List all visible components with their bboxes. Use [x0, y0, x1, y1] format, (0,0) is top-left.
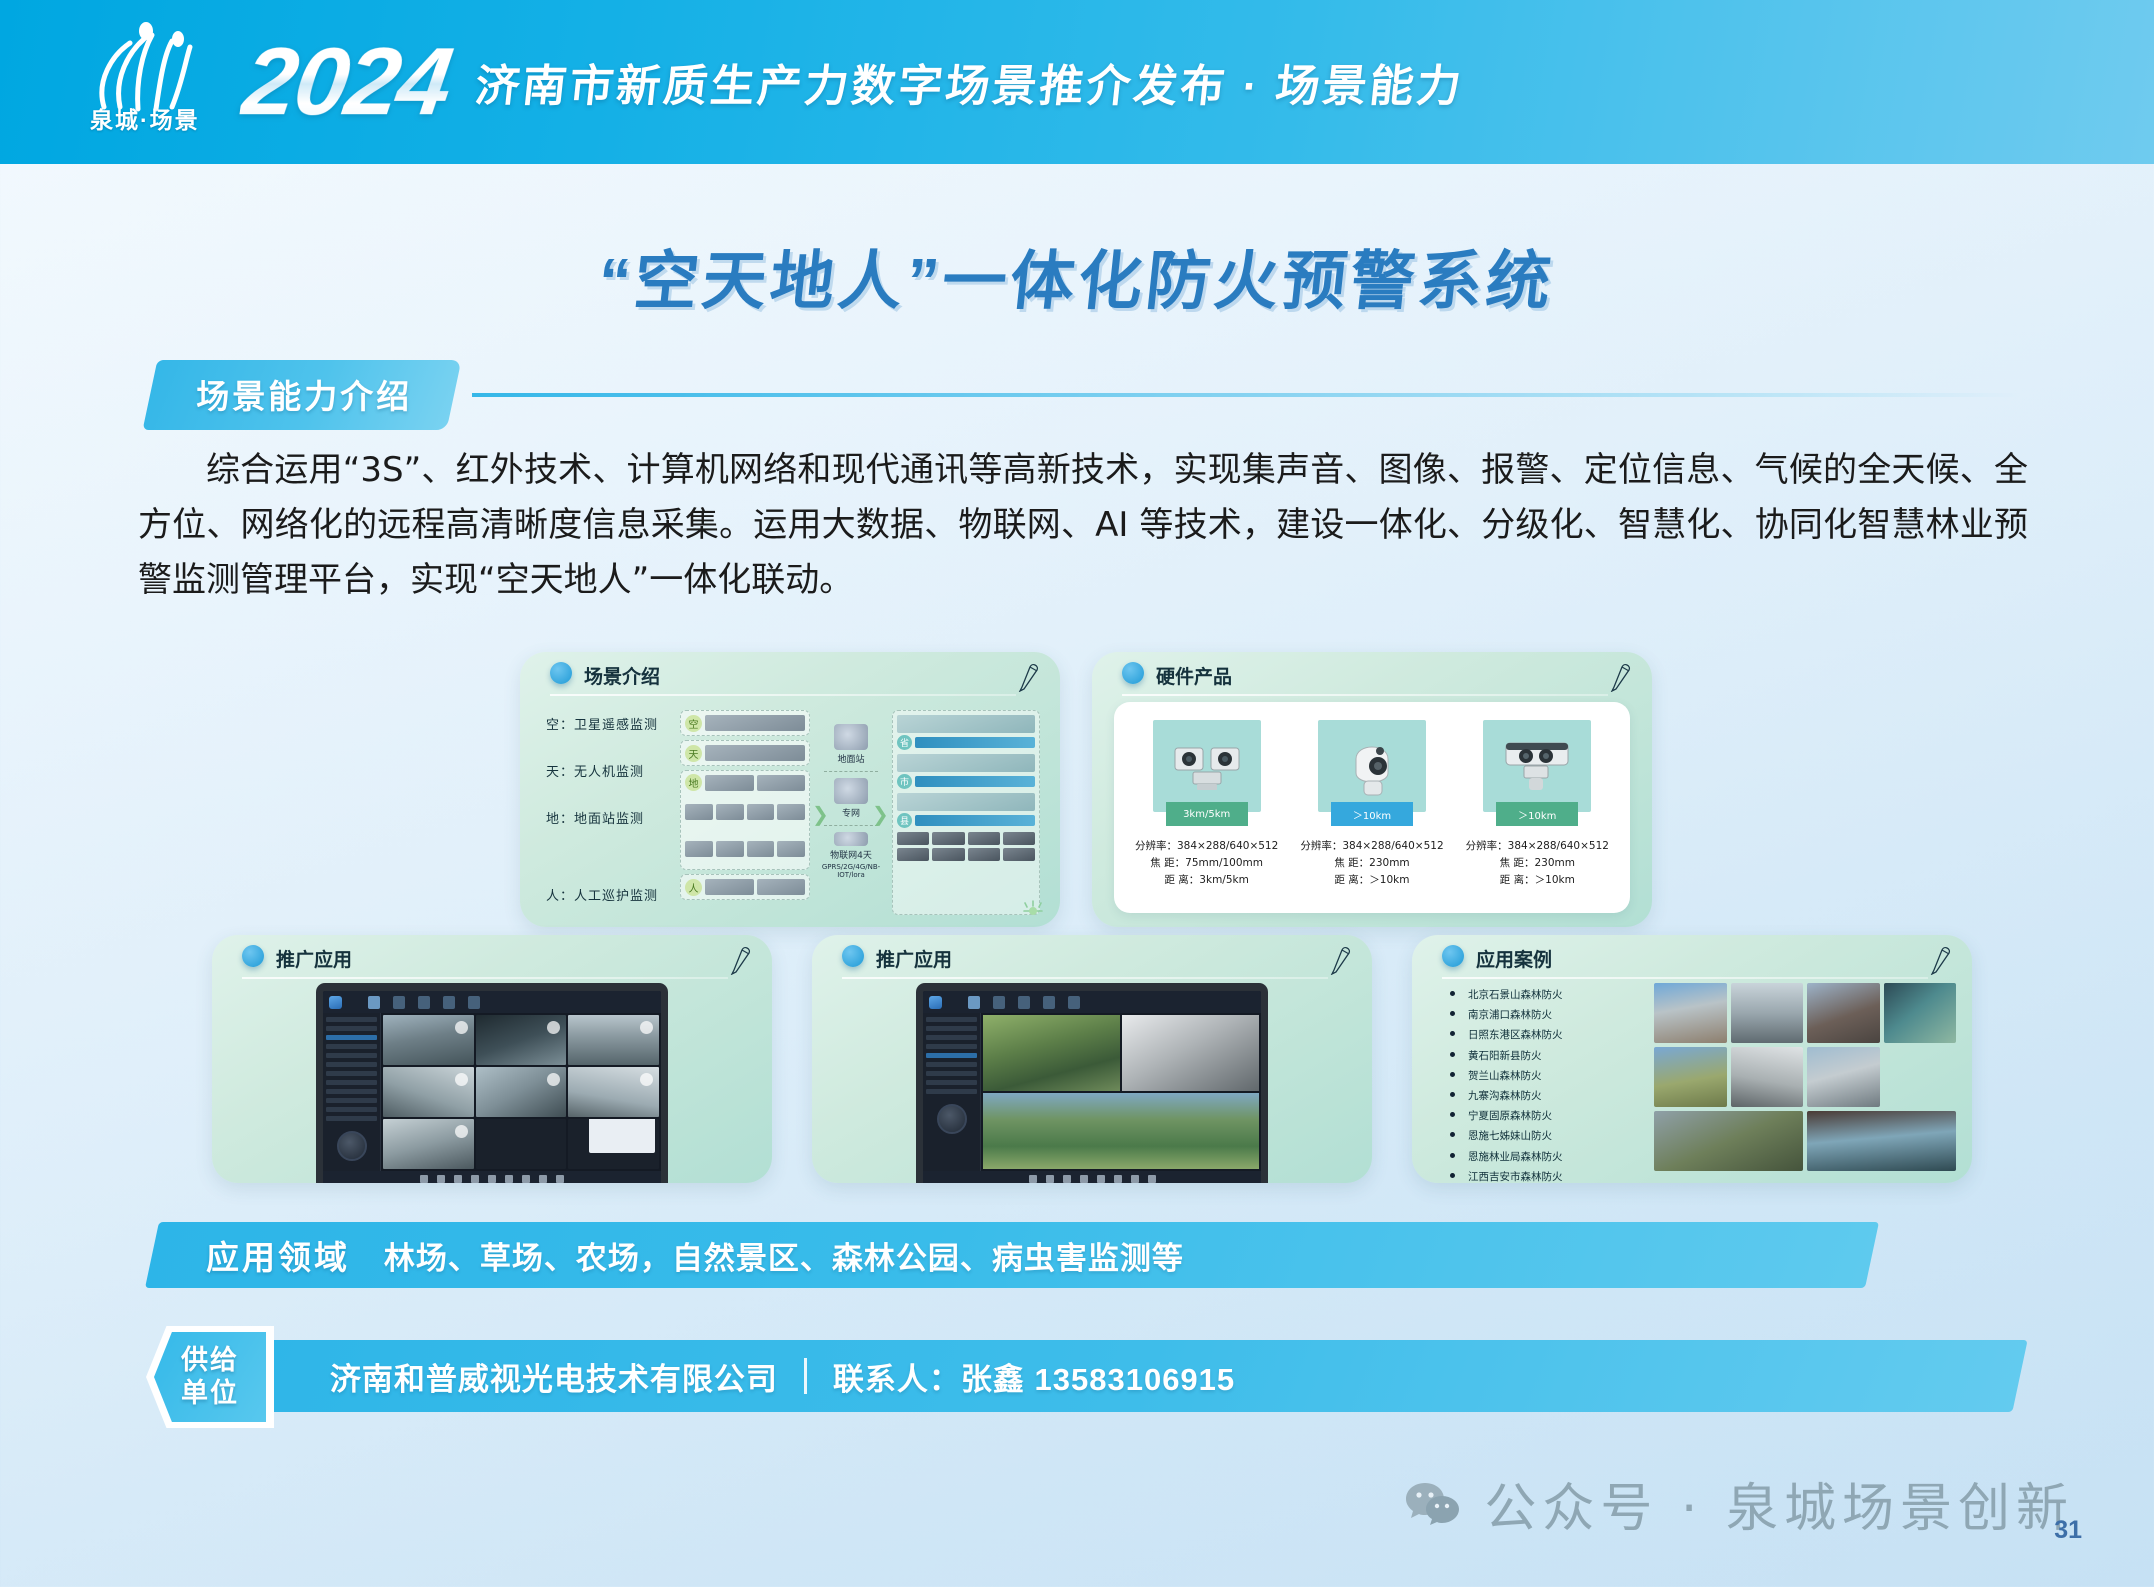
device-icon [897, 832, 929, 845]
wechat-label: 公众号 · 泉城场景创新 [1484, 1466, 2074, 1541]
tab-alarm[interactable] [1018, 996, 1030, 1009]
video-tile-panorama[interactable] [983, 1093, 1259, 1169]
case-photo-gallery [1654, 983, 1956, 1171]
product-photo-ptz-dome: ＞10km [1318, 720, 1426, 812]
card-divider [550, 694, 1016, 696]
list-item: 恩施七姊妹山防火 [1446, 1128, 1646, 1143]
iot-label: 物联网4天 [820, 848, 882, 861]
video-tile-visible-light[interactable] [983, 1015, 1120, 1091]
level-badge-province: 省 [897, 735, 912, 750]
tree-item[interactable] [926, 1089, 977, 1094]
spec-focal-length: 焦 距：230mm [1297, 855, 1447, 872]
laptop-mockup [916, 983, 1268, 1183]
product-photo-dual-spectrum: 3km/5km [1153, 720, 1261, 812]
layout-4x4-icon[interactable] [1097, 1175, 1105, 1183]
layout-1x1-icon[interactable] [1046, 1175, 1054, 1183]
video-tile-thermal[interactable] [1122, 1015, 1259, 1091]
hardware-item: ＞10km 分辨率：384×288/640×512 焦 距：230mm 距 离：… [1297, 720, 1447, 889]
product-photo-laser-ptz: ＞10km [1483, 720, 1591, 812]
tab-playback[interactable] [393, 996, 405, 1009]
application-field-band: 应用领域 林场、草场、农场，自然景区、森林公园、病虫害监测等 [145, 1222, 1879, 1288]
video-tile[interactable] [476, 1067, 567, 1117]
case-photo-control-room [1807, 1111, 1956, 1171]
platform-bar-county [915, 815, 1035, 826]
brand-logo-subtitle: 泉城·场景 [90, 101, 200, 135]
laptop-screen [323, 991, 661, 1183]
list-item: 北京石景山森林防火 [1446, 987, 1646, 1002]
spec-focal-length: 焦 距：75mm/100mm [1132, 855, 1282, 872]
tool-pen-icon[interactable] [1029, 1175, 1037, 1183]
tree-item[interactable] [326, 1071, 377, 1076]
card-header: 硬件产品 [1092, 652, 1652, 696]
card-header: 场景介绍 [520, 652, 1060, 696]
tree-item-selected[interactable] [926, 1053, 977, 1058]
terminal-devices-grid [897, 832, 1035, 861]
satellite-icon [705, 715, 805, 731]
source-icons-row2 [685, 795, 805, 829]
tree-item[interactable] [326, 1107, 377, 1112]
card-divider [842, 977, 1328, 979]
list-item: 黄石阳新县防火 [1446, 1048, 1646, 1063]
video-tile[interactable] [568, 1067, 659, 1117]
layer-label-human: 人：人工巡护监测 [546, 885, 676, 904]
patrol-person-icon [757, 879, 806, 895]
platform-bar-city [915, 776, 1035, 787]
supplier-contact: 联系人：张鑫 13583106915 [833, 1354, 1235, 1399]
case-list: 北京石景山森林防火 南京浦口森林防火 日照东港区森林防火 黄石阳新县防火 贺兰山… [1446, 987, 1646, 1183]
section-tag-label: 场景能力介绍 [196, 370, 412, 418]
fullscreen-icon[interactable] [556, 1175, 564, 1183]
app-bottom-toolbar [923, 1171, 1261, 1183]
list-item: 日照东港区森林防火 [1446, 1027, 1646, 1042]
record-icon[interactable] [1131, 1175, 1139, 1183]
card-header: 推广应用 [812, 935, 1372, 979]
product-range-tag: 3km/5km [1166, 802, 1248, 826]
card-title: 场景介绍 [584, 662, 660, 689]
product-specs: 分辨率：384×288/640×512 焦 距：75mm/100mm 距 离：3… [1132, 838, 1282, 889]
device-icon [968, 848, 1000, 861]
device-tree-sidebar[interactable] [323, 1013, 381, 1171]
list-item: 贺兰山森林防火 [1446, 1068, 1646, 1083]
video-grid [983, 1015, 1259, 1169]
source-icons [705, 715, 805, 731]
layout-list-icon[interactable] [420, 1175, 428, 1183]
source-icons [705, 879, 805, 895]
tree-item[interactable] [326, 1089, 377, 1094]
spec-resolution: 分辨率：384×288/640×512 [1462, 838, 1612, 855]
source-icons-row3 [685, 833, 805, 867]
flow-arrow-2: ❯ [872, 802, 889, 827]
list-item: 九寨沟森林防火 [1446, 1088, 1646, 1103]
card-promotion-dualview: 推广应用 [812, 935, 1372, 1183]
pen-icon [1928, 943, 1954, 975]
video-wall [981, 1013, 1261, 1171]
spec-focal-length: 焦 距：230mm [1462, 855, 1612, 872]
case-photo-tower-camera [1654, 983, 1727, 1043]
tree-item[interactable] [326, 1026, 377, 1031]
card-title: 硬件产品 [1156, 662, 1232, 689]
tree-item[interactable] [326, 1053, 377, 1058]
tab-alarm[interactable] [418, 996, 430, 1009]
tree-item[interactable] [926, 1062, 977, 1067]
snapshot-icon[interactable] [522, 1175, 530, 1183]
iot-cloud-icon [834, 832, 868, 846]
card-header: 推广应用 [212, 935, 772, 979]
video-tile[interactable] [383, 1067, 474, 1117]
tree-item[interactable] [326, 1017, 377, 1022]
layout-2x2-icon[interactable] [1063, 1175, 1071, 1183]
source-box-air: 空 [680, 710, 810, 736]
alarm-detail-panel [589, 1119, 655, 1153]
bullet-dot-icon [842, 945, 864, 967]
bullet-dot-icon [1442, 945, 1464, 967]
case-photo-closeup-camera [1807, 983, 1880, 1043]
tree-item[interactable] [926, 1026, 977, 1031]
app-body [923, 1013, 1261, 1171]
video-tile[interactable] [383, 1119, 474, 1169]
video-tile-empty[interactable] [568, 1119, 659, 1169]
bullet-dot-icon [242, 945, 264, 967]
card-divider [1122, 694, 1608, 696]
device-icon [1003, 848, 1035, 861]
fullscreen-icon[interactable] [1148, 1175, 1156, 1183]
tree-item[interactable] [926, 1044, 977, 1049]
tree-item[interactable] [926, 1080, 977, 1085]
scenario-platform-column: 省 市 县 [892, 710, 1040, 915]
source-icons [705, 745, 805, 761]
product-range-tag: ＞10km [1331, 802, 1413, 826]
app-toolbar [923, 991, 1261, 1013]
layout-1x1-icon[interactable] [454, 1175, 462, 1183]
platform-row-county: 县 [897, 813, 1035, 828]
tree-item[interactable] [326, 1080, 377, 1085]
brand-logo: 泉城·场景 [86, 27, 238, 137]
server-icon-county [897, 793, 1035, 811]
sun-decoration-icon [1020, 891, 1046, 917]
supplier-tag-line1: 供给 [181, 1344, 239, 1377]
card-divider [1442, 977, 1928, 979]
platform-row-province: 省 [897, 735, 1035, 750]
product-range-tag: ＞10km [1496, 802, 1578, 826]
snapshot-icon[interactable] [1114, 1175, 1122, 1183]
level-badge-county: 县 [897, 813, 912, 828]
platform-row-city: 市 [897, 774, 1035, 789]
ground-station-icon [834, 724, 868, 750]
pen-icon [1608, 660, 1634, 692]
card-header: 应用案例 [1412, 935, 1972, 979]
pen-icon [728, 943, 754, 975]
tower-icon [834, 778, 868, 804]
layer-label-sky: 天：无人机监测 [546, 761, 676, 780]
video-grid [383, 1015, 659, 1169]
scenario-layer-labels: 空：卫星遥感监测 天：无人机监测 地：地面站监测 人：人工巡护监测 [546, 714, 676, 927]
section-divider [472, 393, 2020, 397]
tree-item[interactable] [326, 1044, 377, 1049]
server-icon-city [897, 754, 1035, 772]
separator [824, 825, 878, 826]
platform-bar-province [915, 737, 1035, 748]
tab-monitor[interactable] [968, 996, 980, 1009]
pen-icon [1328, 943, 1354, 975]
drone-icon [705, 745, 805, 761]
case-photo-tower-structure [1654, 1111, 1803, 1171]
video-tile[interactable] [476, 1015, 567, 1065]
supplier-band: 济南和普威视光电技术有限公司 联系人：张鑫 13583106915 [252, 1340, 2027, 1412]
environment-station-icon [716, 804, 744, 820]
tab-settings[interactable] [1043, 996, 1055, 1009]
page-header: 泉城·场景 2024 济南市新质生产力数字场景推介发布 · 场景能力 [0, 0, 2154, 164]
card-hardware-products: 硬件产品 3km/5km [1092, 652, 1652, 927]
tab-monitor[interactable] [368, 996, 380, 1009]
layer-label-air: 空：卫星遥感监测 [546, 714, 676, 733]
pole-camera-icon [777, 841, 805, 857]
page-title: “空天地人”一体化防火预警系统 [0, 230, 2154, 322]
layer-label-ground: 地：地面站监测 [546, 808, 676, 827]
rfid-sensor-icon [716, 841, 744, 857]
layout-3x3-icon[interactable] [1080, 1175, 1088, 1183]
source-box-human: 人 [680, 874, 810, 900]
spec-resolution: 分辨率：384×288/640×512 [1132, 838, 1282, 855]
supplier-divider [804, 1358, 807, 1394]
scenario-transmission: 地面站 专网 物联网4天 GPRS/2G/4G/NB-IOT/lora [820, 720, 882, 879]
list-item: 南京浦口森林防火 [1446, 1007, 1646, 1022]
supplier-tag-line2: 单位 [181, 1377, 239, 1410]
product-specs: 分辨率：384×288/640×512 焦 距：230mm 距 离：＞10km [1462, 838, 1612, 889]
list-item: 恩施林业局森林防火 [1446, 1149, 1646, 1164]
tab-playback[interactable] [993, 996, 1005, 1009]
card-title: 应用案例 [1476, 945, 1552, 972]
scenario-source-column: 空 天 地 [680, 710, 810, 915]
layout-3x3-icon[interactable] [488, 1175, 496, 1183]
page-number: 31 [2054, 1516, 2082, 1545]
pen-icon [1016, 660, 1042, 692]
protocols-label: GPRS/2G/4G/NB-IOT/lora [820, 863, 882, 879]
laptop-screen [923, 991, 1261, 1183]
hydrology-station-icon [747, 804, 775, 820]
application-field-label: 应用领域 [206, 1231, 350, 1279]
app-toolbar [323, 991, 661, 1013]
server-icon-province [897, 715, 1035, 733]
supplier-company: 济南和普威视光电技术有限公司 [330, 1354, 778, 1399]
hardware-item: ＞10km 分辨率：384×288/640×512 焦 距：230mm 距 离：… [1462, 720, 1612, 889]
list-item: 宁夏固原森林防火 [1446, 1108, 1646, 1123]
footer: 公众号 · 泉城场景创新 [1404, 1466, 2074, 1541]
wechat-icon [1404, 1480, 1462, 1528]
badge-air: 空 [685, 715, 702, 732]
hardware-item-list: 3km/5km 分辨率：384×288/640×512 焦 距：75mm/100… [1114, 702, 1630, 889]
app-tabs [968, 996, 1080, 1009]
source-icons [705, 775, 805, 791]
device-tree-sidebar[interactable] [923, 1013, 981, 1171]
separator [824, 771, 878, 772]
source-box-sky: 天 [680, 740, 810, 766]
tree-item[interactable] [926, 1035, 977, 1040]
video-wall [381, 1013, 661, 1171]
header-year: 2024 [237, 34, 456, 130]
laptop-lid [316, 983, 668, 1183]
app-bottom-toolbar [323, 1171, 661, 1183]
case-photo-ptz-unit [1807, 1047, 1880, 1107]
record-icon[interactable] [539, 1175, 547, 1183]
fire-sensor-icon [705, 775, 754, 791]
bullet-dot-icon [550, 662, 572, 684]
badge-human: 人 [685, 879, 702, 896]
spec-distance: 距 离：＞10km [1297, 872, 1447, 889]
spec-resolution: 分辨率：384×288/640×512 [1297, 838, 1447, 855]
source-box-ground: 地 [680, 770, 810, 870]
tree-item[interactable] [326, 1098, 377, 1103]
card-title: 推广应用 [276, 945, 352, 972]
product-specs: 分辨率：384×288/640×512 焦 距：230mm 距 离：＞10km [1297, 838, 1447, 889]
card-scenario-intro: 场景介绍 空：卫星遥感监测 天：无人机监测 地：地面站监测 人：人工巡护监测 空… [520, 652, 1060, 927]
tab-device[interactable] [468, 996, 480, 1009]
layout-4x4-icon[interactable] [505, 1175, 513, 1183]
weather-station-icon [685, 804, 713, 820]
section-header: 场景能力介绍 [150, 360, 2020, 430]
case-photo-field-tripod [1654, 1047, 1727, 1107]
spec-distance: 距 离：＞10km [1462, 872, 1612, 889]
tree-item[interactable] [926, 1071, 977, 1076]
soil-station-icon [777, 804, 805, 820]
device-icon [897, 848, 929, 861]
app-logo-icon [329, 996, 342, 1009]
tool-pen-icon[interactable] [437, 1175, 445, 1183]
hardware-panel: 3km/5km 分辨率：384×288/640×512 焦 距：75mm/100… [1114, 702, 1630, 913]
badge-sky: 天 [685, 745, 702, 762]
bullet-dot-icon [1122, 662, 1144, 684]
hardware-item: 3km/5km 分辨率：384×288/640×512 焦 距：75mm/100… [1132, 720, 1282, 889]
app-logo-icon [929, 996, 942, 1009]
case-photo-fog-camera [1731, 1047, 1804, 1107]
case-photo-mast-camera [1731, 983, 1804, 1043]
device-icon [932, 832, 964, 845]
layout-2x2-icon[interactable] [471, 1175, 479, 1183]
video-tile-empty[interactable] [476, 1119, 567, 1169]
card-title: 推广应用 [876, 945, 952, 972]
list-item: 江西吉安市森林防火 [1446, 1169, 1646, 1183]
device-icon [1003, 832, 1035, 845]
ptz-dome-camera-icon [1342, 733, 1402, 799]
rfid-reader-icon [747, 841, 775, 857]
tree-item[interactable] [926, 1017, 977, 1022]
video-tile[interactable] [383, 1015, 474, 1065]
card-application-cases: 应用案例 北京石景山森林防火 南京浦口森林防火 日照东港区森林防火 黄石阳新县防… [1412, 935, 1972, 1183]
app-body [323, 1013, 661, 1171]
scene-description: 综合运用“3S”、红外技术、计算机网络和现代通讯等高新技术，实现集声音、图像、报… [138, 443, 2028, 608]
laptop-mockup [316, 983, 668, 1183]
level-badge-city: 市 [897, 774, 912, 789]
section-tag: 场景能力介绍 [143, 360, 462, 430]
supplier-tag: 供给 单位 [146, 1326, 274, 1428]
card-promotion-multiview: 推广应用 [212, 935, 772, 1183]
ground-station-label: 地面站 [820, 752, 882, 765]
badge-ground: 地 [685, 774, 702, 791]
laptop-lid [916, 983, 1268, 1183]
dual-camera-icon [757, 775, 806, 791]
application-field-text: 林场、草场、农场，自然景区、森林公园、病虫害监测等 [384, 1233, 1184, 1278]
header-title: 济南市新质生产力数字场景推介发布 · 场景能力 [472, 50, 1467, 114]
spec-distance: 距 离：3km/5km [1132, 872, 1282, 889]
tab-settings[interactable] [443, 996, 455, 1009]
device-icon [932, 848, 964, 861]
dual-lens-camera-icon [1169, 738, 1245, 794]
tree-item-selected[interactable] [326, 1035, 377, 1040]
ptz-joystick-control[interactable] [937, 1104, 967, 1134]
monitor-post-icon [685, 841, 713, 857]
case-photo-video-wall [1884, 983, 1957, 1043]
card-divider [242, 977, 728, 979]
video-tile[interactable] [568, 1015, 659, 1065]
app-tabs [368, 996, 480, 1009]
ptz-joystick-control[interactable] [337, 1131, 367, 1161]
handheld-terminal-icon [705, 879, 754, 895]
tree-item[interactable] [326, 1116, 377, 1121]
tab-device[interactable] [1068, 996, 1080, 1009]
device-icon [968, 832, 1000, 845]
laser-ptz-camera-icon [1498, 735, 1576, 797]
tree-item[interactable] [326, 1062, 377, 1067]
